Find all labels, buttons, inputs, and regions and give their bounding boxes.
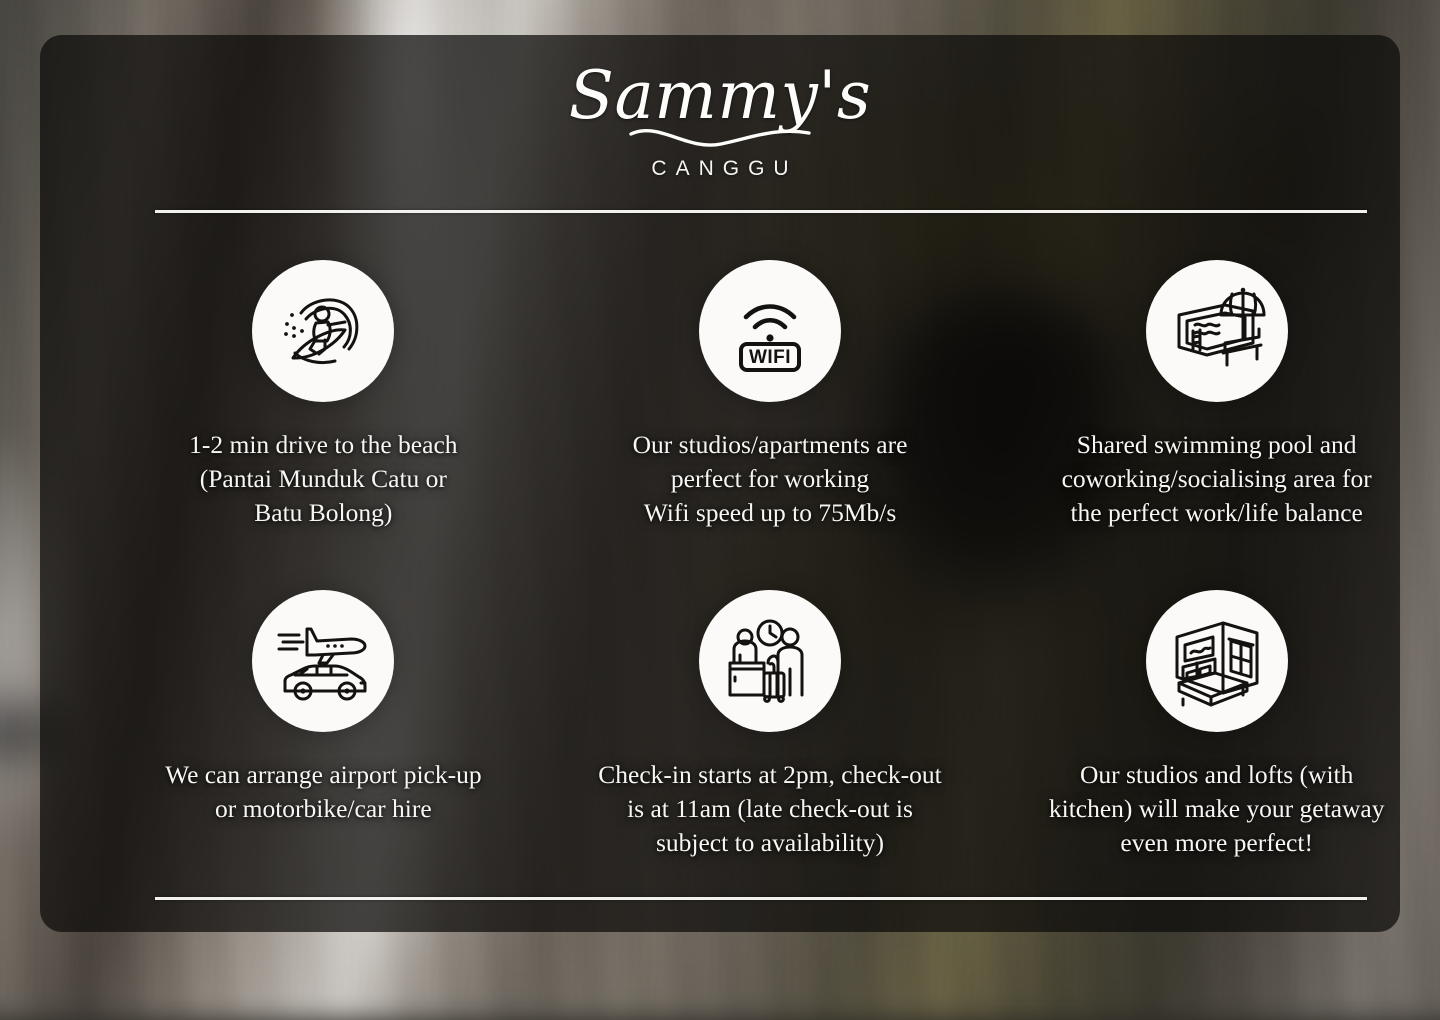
studio-bedroom-interior-icon [1146, 590, 1288, 732]
brand-location: CANGGU [40, 157, 1400, 181]
feature-caption: Our studios/apartments are perfect for w… [633, 428, 908, 530]
info-card-panel: Sammy's CANGGU [40, 35, 1400, 932]
feature-caption: Check-in starts at 2pm, check-out is at … [598, 758, 941, 860]
pool-umbrella-lounger-icon [1146, 260, 1288, 402]
feature-caption: We can arrange airport pick-up or motorb… [165, 758, 482, 826]
reception-check-in-clock-luggage-icon [699, 590, 841, 732]
wifi-sign-icon: WIFI [699, 260, 841, 402]
feature-caption: Shared swimming pool and coworking/socia… [1062, 428, 1372, 530]
brand-logo: Sammy's CANGGU [40, 63, 1400, 181]
airplane-car-transfer-icon [252, 590, 394, 732]
feature-caption: 1-2 min drive to the beach (Pantai Mundu… [189, 428, 457, 530]
feature-caption: Our studios and lofts (with kitchen) wil… [1049, 758, 1385, 860]
feature-studio: Our studios and lofts (with kitchen) wil… [993, 590, 1440, 905]
features-row-1: 1-2 min drive to the beach (Pantai Mundu… [100, 260, 1440, 590]
features-grid: 1-2 min drive to the beach (Pantai Mundu… [100, 260, 1440, 905]
divider-top [155, 210, 1367, 213]
surfer-wave-icon [252, 260, 394, 402]
feature-transfer: We can arrange airport pick-up or motorb… [100, 590, 547, 905]
svg-text:WIFI: WIFI [749, 347, 791, 368]
features-row-2: We can arrange airport pick-up or motorb… [100, 590, 1440, 905]
feature-checkin: Check-in starts at 2pm, check-out is at … [547, 590, 994, 905]
brand-name: Sammy's [40, 63, 1400, 129]
feature-pool: Shared swimming pool and coworking/socia… [993, 260, 1440, 590]
divider-bottom [155, 897, 1367, 900]
feature-wifi: WIFI Our studios/apartments are perfect … [547, 260, 994, 590]
feature-beach: 1-2 min drive to the beach (Pantai Mundu… [100, 260, 547, 590]
